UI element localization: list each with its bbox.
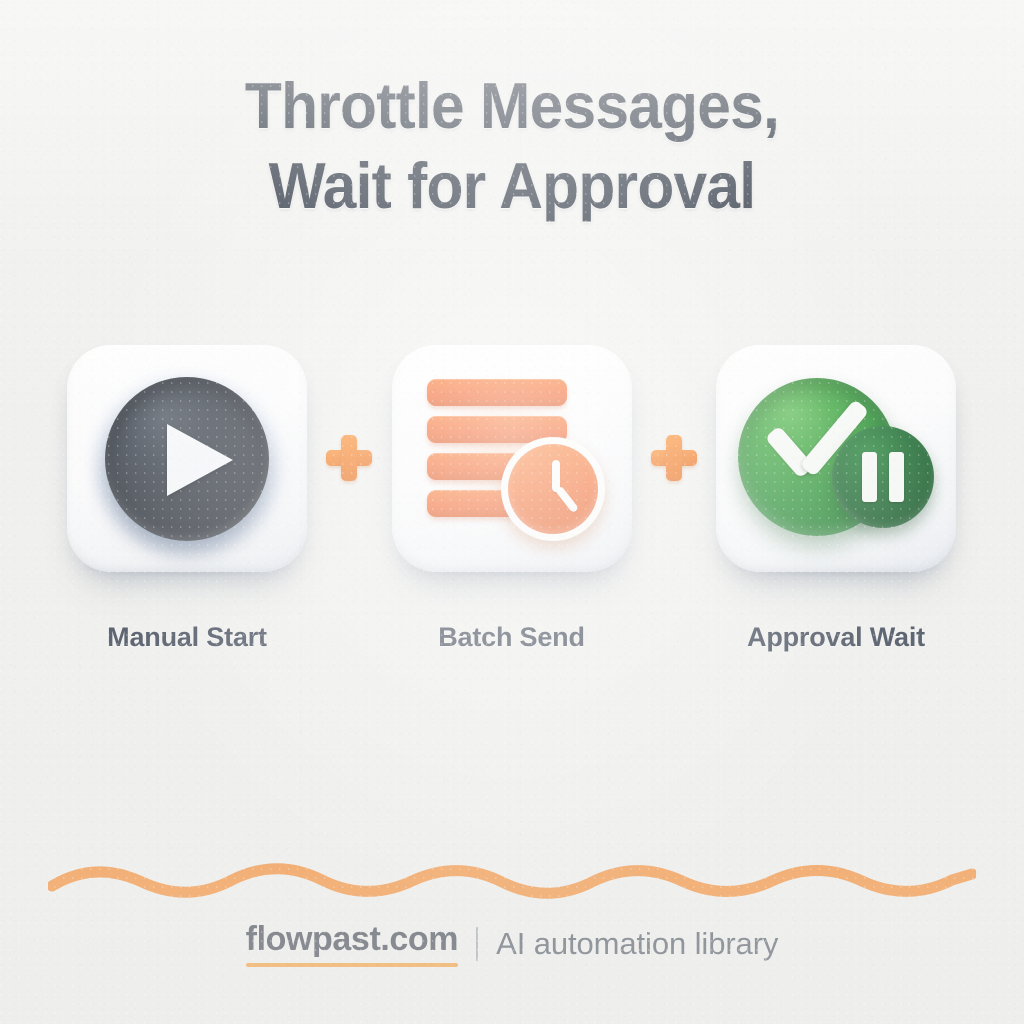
play-button-icon [105, 377, 269, 541]
clock-icon [501, 437, 605, 541]
check-pause-icon [738, 378, 934, 540]
pause-bar-1 [862, 452, 877, 502]
card-tile[interactable] [716, 345, 956, 572]
plus-icon-vertical-bar [341, 435, 357, 481]
feature-card-manual-start[interactable]: Manual Start [67, 345, 307, 653]
feature-card-batch-send[interactable]: Batch Send [392, 345, 632, 653]
footer-divider [476, 927, 478, 961]
card-label-manual-start: Manual Start [107, 622, 267, 653]
page-title: Throttle Messages, Wait for Approval [0, 66, 1024, 226]
wavy-divider [48, 856, 976, 902]
feature-cards-row: Manual Start [67, 345, 956, 645]
brand-underline [246, 963, 458, 967]
clock-hour-hand [554, 485, 578, 513]
feature-card-approval-wait[interactable]: Approval Wait [716, 345, 956, 653]
play-triangle-icon [167, 424, 233, 496]
poster-canvas: Throttle Messages, Wait for Approval Man… [0, 0, 1024, 1024]
batch-list-clock-icon [419, 375, 605, 543]
footer-tagline: AI automation library [496, 926, 778, 962]
card-label-batch-send: Batch Send [438, 622, 585, 653]
title-line-2: Wait for Approval [36, 146, 988, 226]
brand-wordmark[interactable]: flowpast.com [246, 920, 458, 967]
card-label-approval-wait: Approval Wait [747, 622, 925, 653]
plus-separator-1 [320, 345, 378, 572]
pause-bar-2 [889, 452, 904, 502]
plus-icon-vertical-bar [666, 435, 682, 481]
card-tile[interactable] [67, 345, 307, 572]
plus-separator-2 [645, 345, 703, 572]
pause-icon [832, 426, 934, 528]
card-tile[interactable] [392, 345, 632, 572]
title-line-1: Throttle Messages, [36, 66, 988, 146]
footer: flowpast.com AI automation library [0, 920, 1024, 967]
batch-bar-1 [427, 379, 567, 406]
brand-text: flowpast.com [246, 920, 458, 958]
